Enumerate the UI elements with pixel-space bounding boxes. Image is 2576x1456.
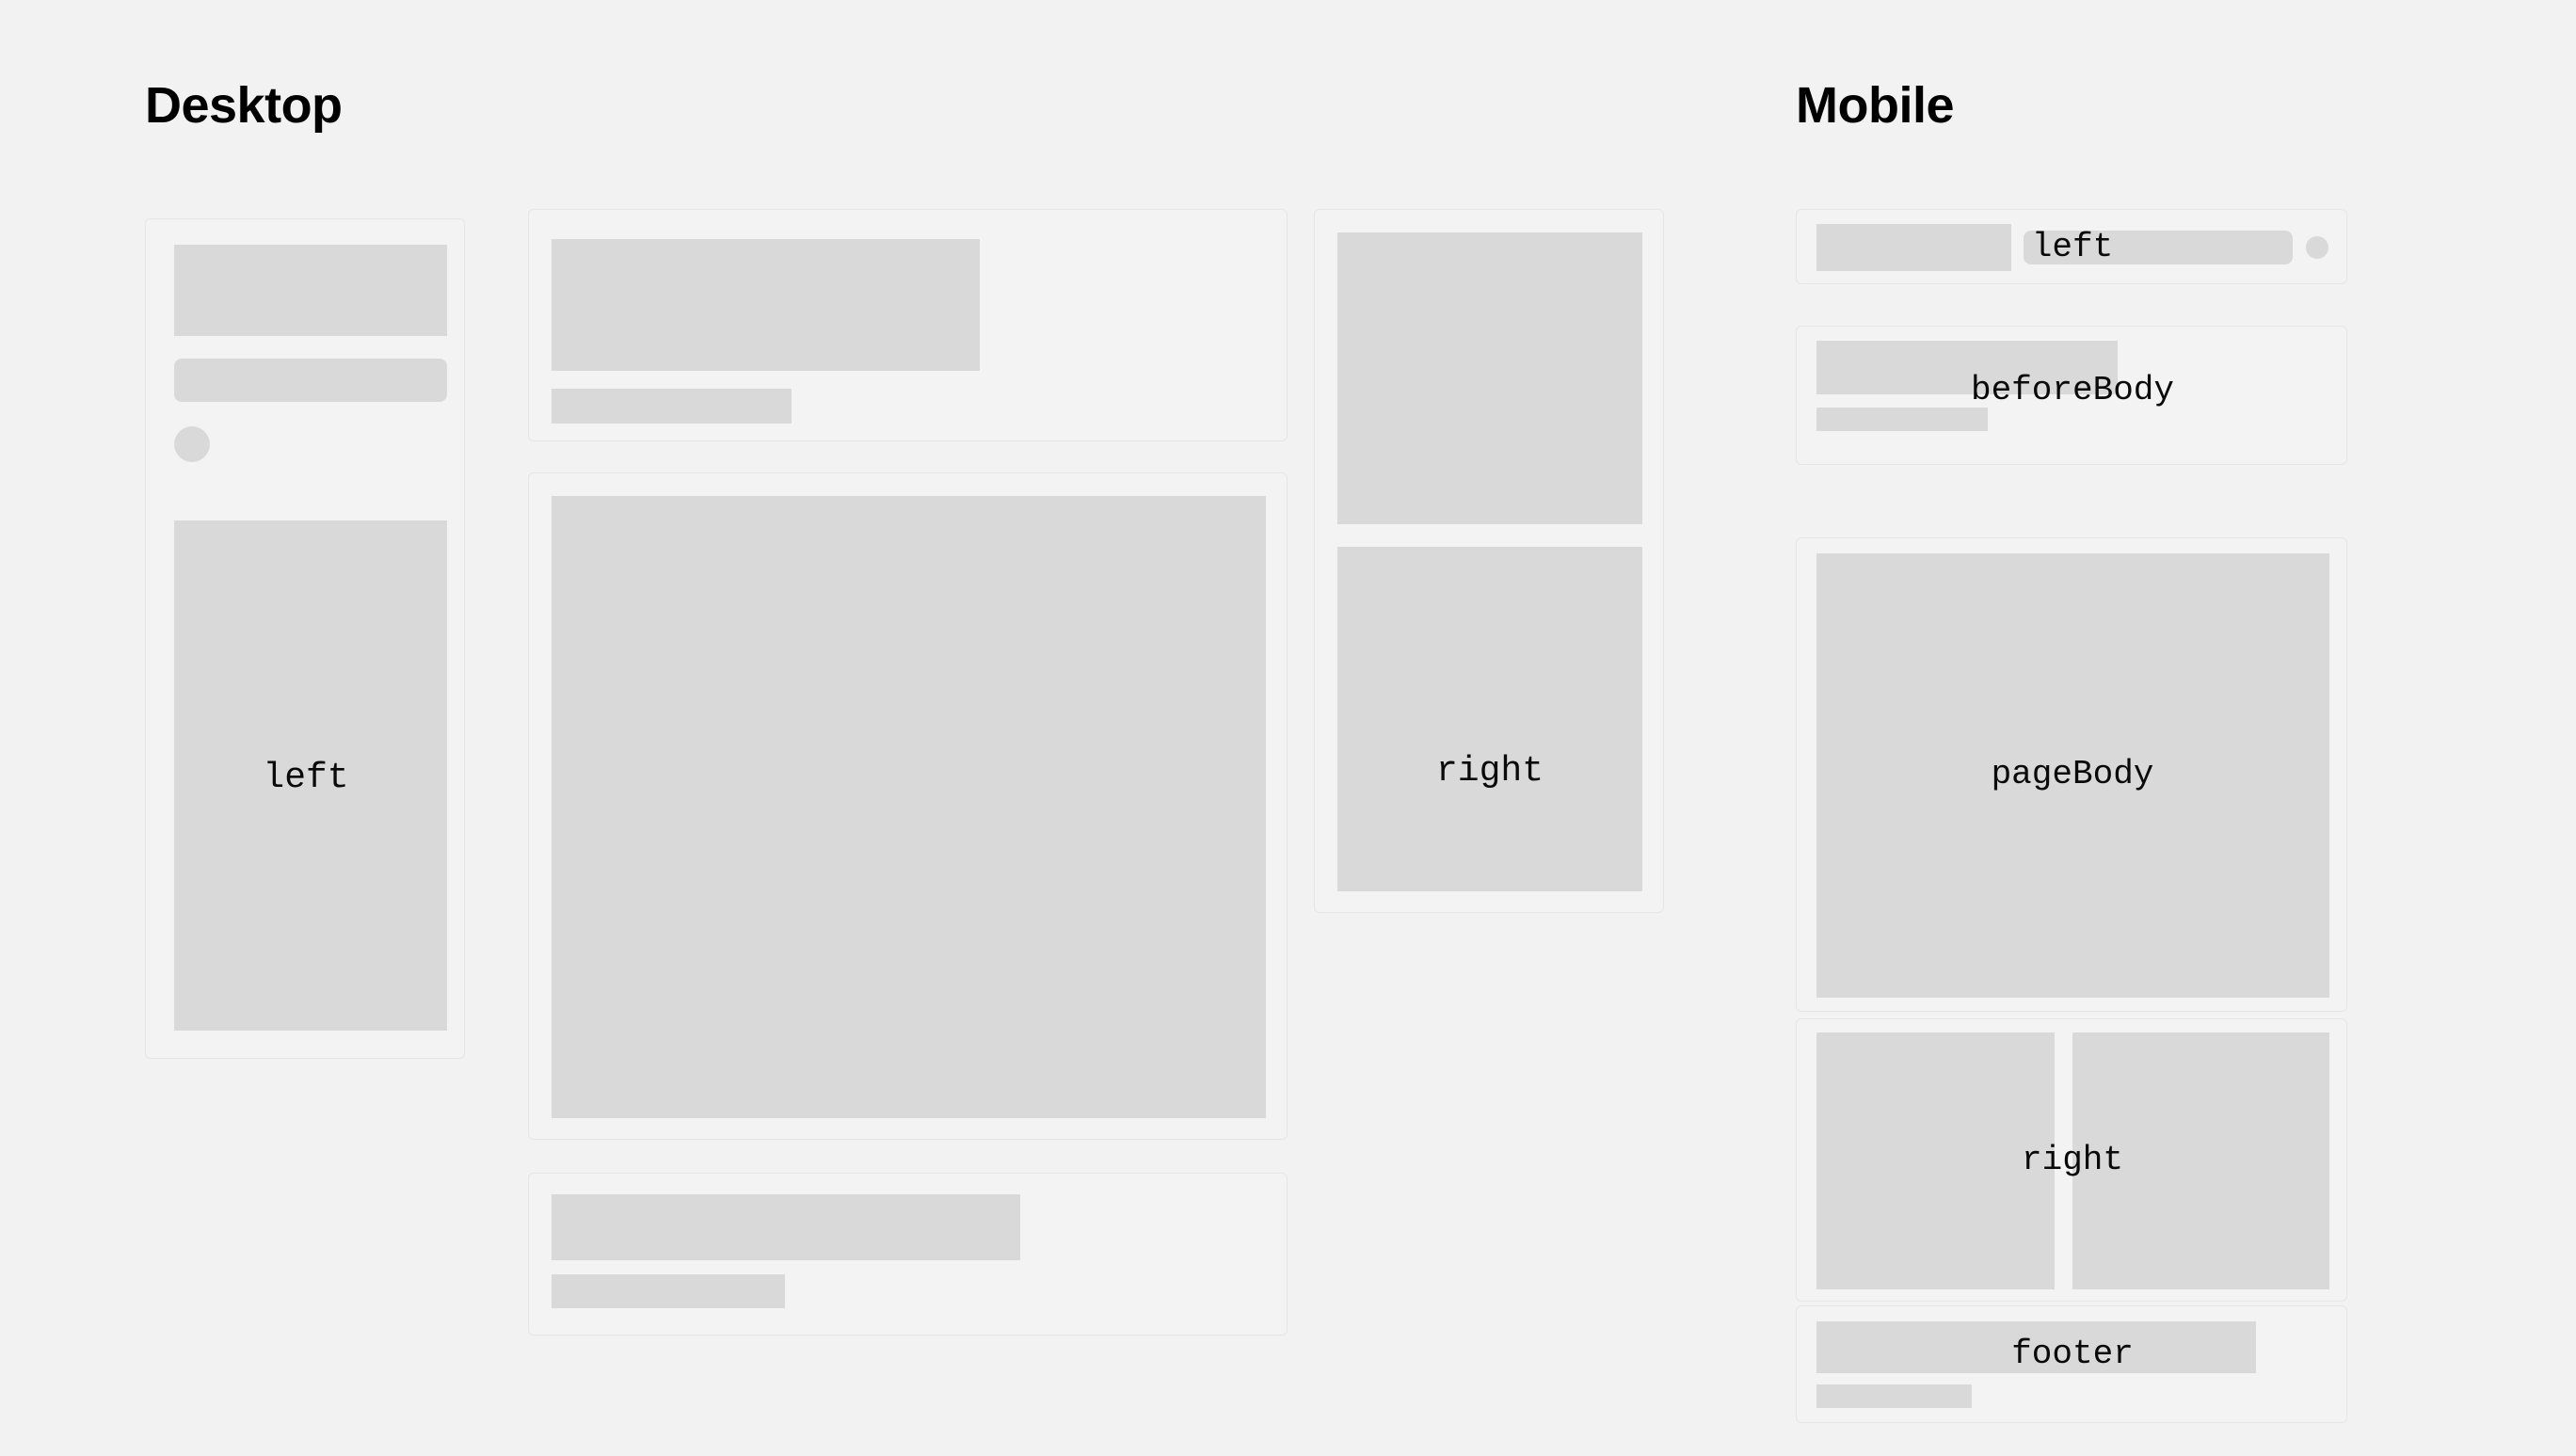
mobile-footer-panel[interactable]: footer: [1796, 1305, 2347, 1423]
skeleton-block: [1337, 232, 1642, 524]
mobile-beforebody-panel[interactable]: beforeBody: [1796, 326, 2347, 465]
skeleton-pill: [174, 359, 447, 402]
skeleton-block: [1816, 408, 1988, 431]
responsive-layout-wireframe: Desktop left beforeBody pageBody footer …: [0, 0, 2576, 1456]
skeleton-block: [1816, 224, 2011, 271]
mobile-right-panel[interactable]: right: [1796, 1018, 2347, 1302]
skeleton-block: [552, 389, 792, 424]
skeleton-block: [1816, 553, 2329, 998]
desktop-footer-panel[interactable]: footer: [528, 1173, 1288, 1336]
mobile-pagebody-panel[interactable]: pageBody: [1796, 537, 2347, 1012]
desktop-beforebody-panel[interactable]: beforeBody: [528, 209, 1288, 441]
mobile-column-heading: Mobile: [1796, 80, 1954, 131]
skeleton-block: [552, 1274, 785, 1308]
desktop-left-panel[interactable]: left: [145, 218, 465, 1059]
skeleton-circle: [174, 426, 210, 462]
desktop-column-heading: Desktop: [145, 80, 343, 131]
skeleton-pill: [2024, 231, 2293, 264]
skeleton-circle: [2306, 236, 2328, 259]
mobile-left-panel[interactable]: left: [1796, 209, 2347, 284]
skeleton-block: [1816, 1032, 2055, 1289]
skeleton-block: [1816, 341, 2118, 394]
skeleton-block: [1816, 1321, 2256, 1373]
desktop-right-panel[interactable]: right: [1314, 209, 1664, 913]
skeleton-block: [174, 245, 447, 336]
skeleton-block: [1337, 547, 1642, 891]
desktop-pagebody-panel[interactable]: pageBody: [528, 472, 1288, 1140]
skeleton-block: [552, 239, 980, 371]
skeleton-block: [2072, 1032, 2329, 1289]
skeleton-block: [174, 520, 447, 1031]
skeleton-block: [1816, 1384, 1972, 1408]
skeleton-block: [552, 1194, 1020, 1260]
skeleton-block: [552, 496, 1266, 1118]
